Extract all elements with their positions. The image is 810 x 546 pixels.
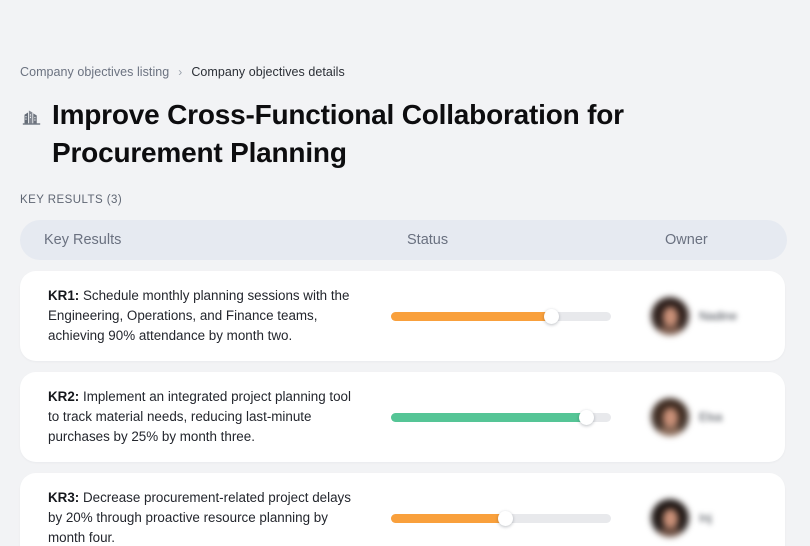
avatar-face [663, 307, 678, 326]
owner-cell: Elsa [641, 398, 785, 436]
progress-fill [391, 312, 552, 321]
owner-cell: Nadine [641, 297, 785, 335]
avatar-body [658, 527, 682, 537]
owner-name: Elsa [699, 410, 722, 424]
avatar[interactable] [651, 499, 689, 537]
breadcrumb: Company objectives listing › Company obj… [20, 0, 790, 81]
table-row[interactable]: KR2: Implement an integrated project pla… [20, 372, 785, 462]
breadcrumb-current-company-objectives-details: Company objectives details [191, 63, 344, 81]
key-result-text: KR3: Decrease procurement-related projec… [20, 488, 383, 546]
progress-slider[interactable] [391, 312, 611, 321]
progress-slider[interactable] [391, 514, 611, 523]
key-results-list: KR1: Schedule monthly planning sessions … [20, 271, 790, 546]
key-result-description: Schedule monthly planning sessions with … [48, 288, 349, 343]
progress-handle[interactable] [544, 309, 559, 324]
column-header-status: Status [407, 232, 665, 248]
key-results-section-label: KEY RESULTS (3) [20, 194, 790, 206]
progress-slider[interactable] [391, 413, 611, 422]
avatar[interactable] [651, 297, 689, 335]
table-row[interactable]: KR3: Decrease procurement-related projec… [20, 473, 785, 546]
progress-handle[interactable] [579, 410, 594, 425]
table-header-row: Key Results Status Owner [20, 220, 787, 260]
progress-handle[interactable] [498, 511, 513, 526]
status-cell [383, 312, 641, 321]
status-cell [383, 514, 641, 523]
key-result-prefix: KR3: [48, 490, 79, 505]
owner-name: Inj [699, 511, 712, 525]
column-header-owner: Owner [665, 232, 763, 248]
avatar-body [658, 426, 682, 436]
avatar-face [663, 408, 678, 427]
owner-cell: Inj [641, 499, 785, 537]
table-row[interactable]: KR1: Schedule monthly planning sessions … [20, 271, 785, 361]
owner-name: Nadine [699, 309, 737, 323]
chevron-right-icon: › [178, 66, 182, 78]
avatar[interactable] [651, 398, 689, 436]
column-header-key-results: Key Results [44, 232, 407, 248]
key-results-table: Key Results Status Owner KR1: Schedule m… [20, 220, 790, 546]
company-building-icon [20, 100, 42, 130]
progress-fill [391, 413, 587, 422]
page-title: Improve Cross-Functional Collaboration f… [52, 96, 692, 172]
avatar-face [663, 509, 678, 528]
key-result-text: KR2: Implement an integrated project pla… [20, 387, 383, 447]
avatar-body [658, 325, 682, 335]
status-cell [383, 413, 641, 422]
key-result-prefix: KR2: [48, 389, 79, 404]
progress-fill [391, 514, 505, 523]
key-result-description: Decrease procurement-related project del… [48, 490, 351, 545]
breadcrumb-link-company-objectives-listing[interactable]: Company objectives listing [20, 63, 169, 81]
objective-details-page: Company objectives listing › Company obj… [0, 0, 810, 546]
key-result-prefix: KR1: [48, 288, 79, 303]
page-header: Improve Cross-Functional Collaboration f… [20, 96, 790, 172]
key-result-description: Implement an integrated project planning… [48, 389, 351, 444]
key-result-text: KR1: Schedule monthly planning sessions … [20, 286, 383, 346]
